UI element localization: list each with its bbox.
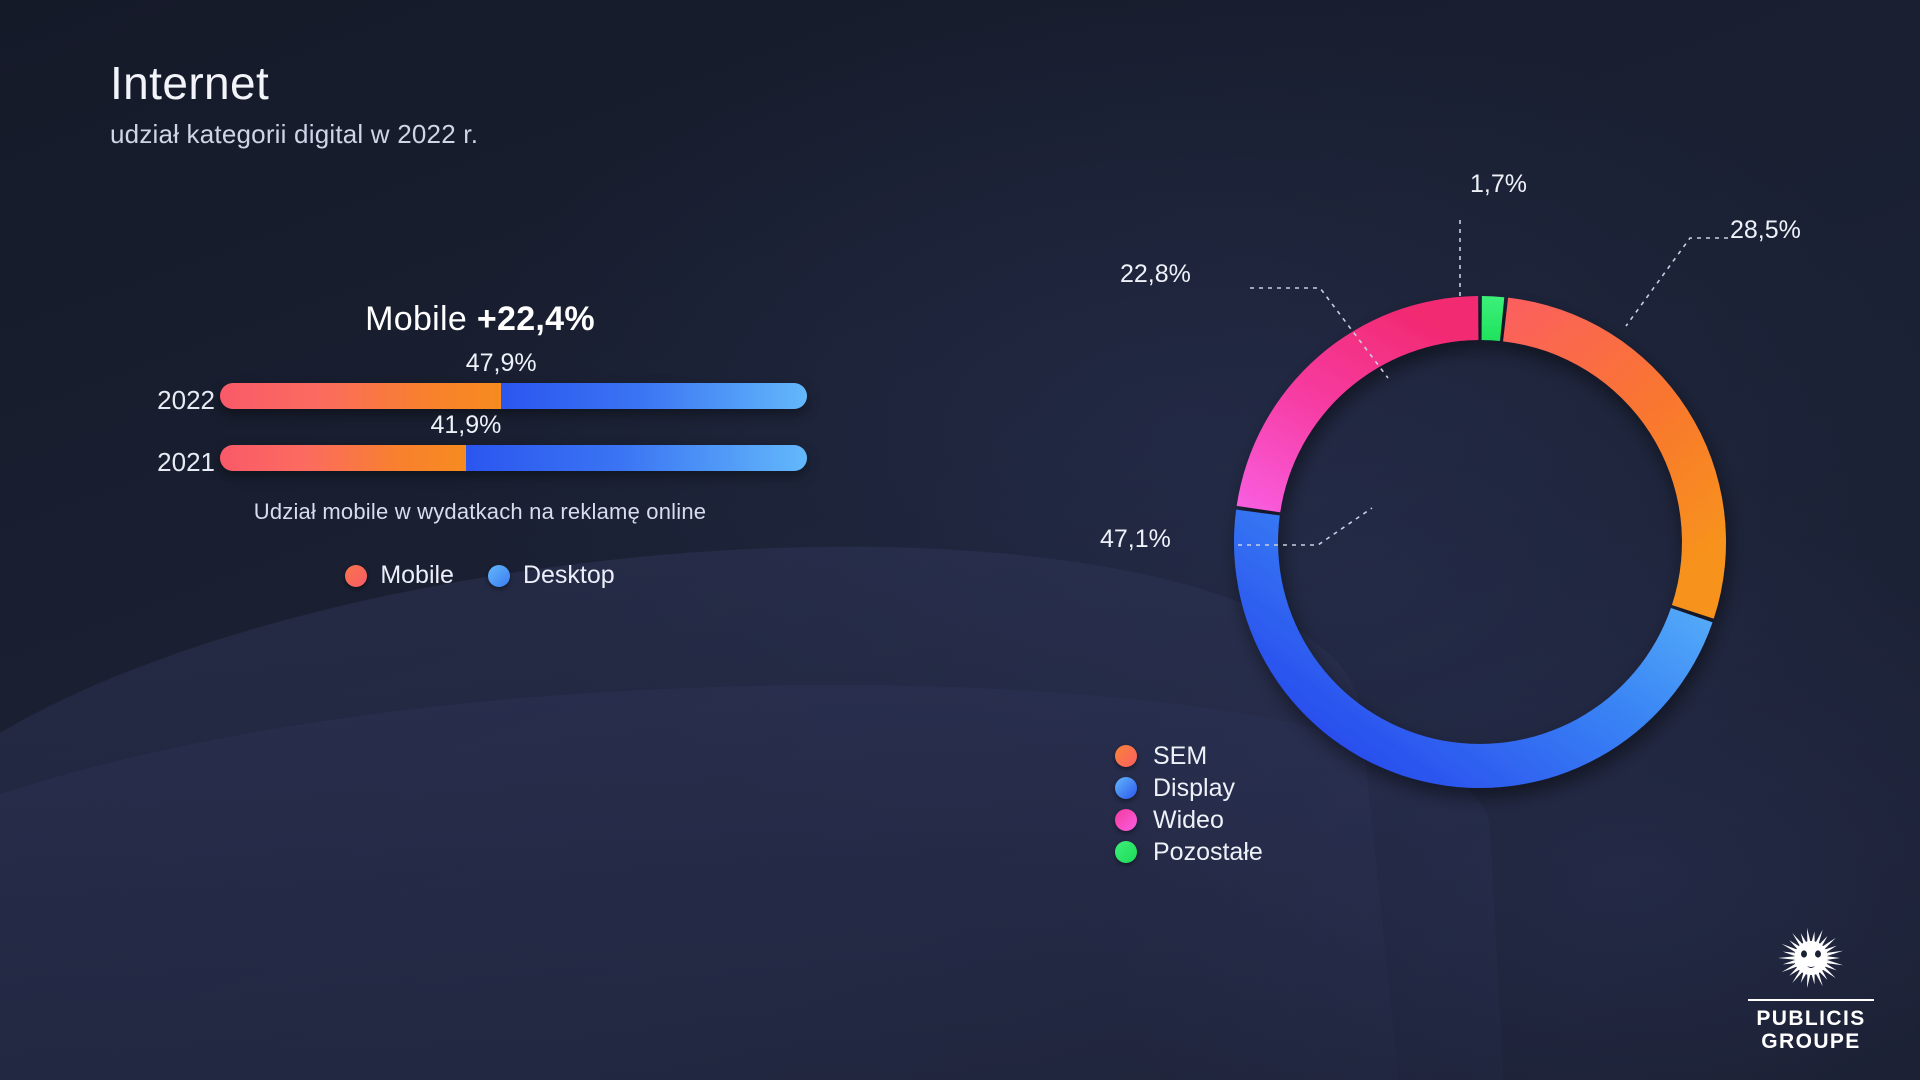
bar-track-2021: [220, 445, 807, 471]
legend-label-sem: SEM: [1153, 742, 1207, 771]
bar-segment-mobile-2021: [220, 445, 466, 471]
legend-item-display: Display: [1115, 772, 1263, 804]
legend-swatch-wideo-icon: [1115, 809, 1137, 831]
legend-item-pozostale: Pozostałe: [1115, 836, 1263, 868]
bar-value-label-2022: 47,9%: [466, 349, 537, 378]
slide-canvas: Internet udział kategorii digital w 2022…: [0, 0, 1920, 1080]
publicis-sun-icon: [1759, 922, 1863, 996]
legend-swatch-sem-icon: [1115, 745, 1137, 767]
legend-item-mobile: Mobile: [345, 561, 454, 590]
logo-line-2: GROUPE: [1748, 1030, 1874, 1054]
logo-rule: [1748, 999, 1874, 1001]
bar-chart-headline: Mobile +22,4%: [80, 300, 880, 339]
legend-item-desktop: Desktop: [488, 561, 615, 590]
bar-rows: 2022 47,9% 2021 41,9%: [0, 361, 880, 485]
bar-headline-value: +22,4%: [477, 300, 595, 338]
donut-slice-pozostałe: [1482, 296, 1505, 341]
bar-segment-mobile-2022: [220, 383, 501, 409]
legend-item-sem: SEM: [1115, 740, 1263, 772]
bar-headline-prefix: Mobile: [365, 300, 477, 338]
page-title: Internet: [110, 58, 478, 109]
donut-slice-sem: [1503, 298, 1726, 619]
legend-label-desktop: Desktop: [523, 561, 615, 590]
donut-slice-wideo: [1237, 296, 1479, 512]
bar-segment-desktop-2021: [466, 445, 807, 471]
legend-label-pozostale: Pozostałe: [1153, 838, 1263, 867]
bar-row-label-2022: 2022: [133, 385, 215, 416]
legend-label-mobile: Mobile: [380, 561, 454, 590]
donut-callout-wideo: 22,8%: [1120, 260, 1191, 289]
bar-track-2022: [220, 383, 807, 409]
mobile-share-bar-chart: Mobile +22,4% 2022 47,9% 2021 41,9% Udz: [0, 300, 880, 590]
slide-header: Internet udział kategorii digital w 2022…: [110, 58, 478, 150]
bar-chart-legend: Mobile Desktop: [80, 561, 880, 590]
bar-row-label-2021: 2021: [133, 447, 215, 478]
bar-chart-caption: Udział mobile w wydatkach na reklamę onl…: [80, 499, 880, 525]
donut-callout-display: 47,1%: [1100, 525, 1171, 554]
donut-slice-display: [1234, 510, 1713, 788]
donut-callout-sem: 28,5%: [1730, 216, 1801, 245]
legend-swatch-pozostale-icon: [1115, 841, 1137, 863]
page-subtitle: udział kategorii digital w 2022 r.: [110, 119, 478, 150]
legend-swatch-mobile-icon: [345, 565, 367, 587]
logo-line-1: PUBLICIS: [1748, 1007, 1874, 1031]
bar-segment-desktop-2022: [501, 383, 807, 409]
bar-row-2021: 2021 41,9%: [0, 423, 880, 485]
legend-label-display: Display: [1153, 774, 1235, 803]
bar-value-label-2021: 41,9%: [430, 411, 501, 440]
publicis-groupe-logo: PUBLICIS GROUPE: [1748, 922, 1874, 1054]
legend-swatch-display-icon: [1115, 777, 1137, 799]
donut-chart-legend: SEM Display Wideo Pozostałe: [1115, 740, 1263, 868]
legend-item-wideo: Wideo: [1115, 804, 1263, 836]
legend-swatch-desktop-icon: [488, 565, 510, 587]
legend-label-wideo: Wideo: [1153, 806, 1224, 835]
donut-callout-pozostale: 1,7%: [1470, 170, 1527, 199]
